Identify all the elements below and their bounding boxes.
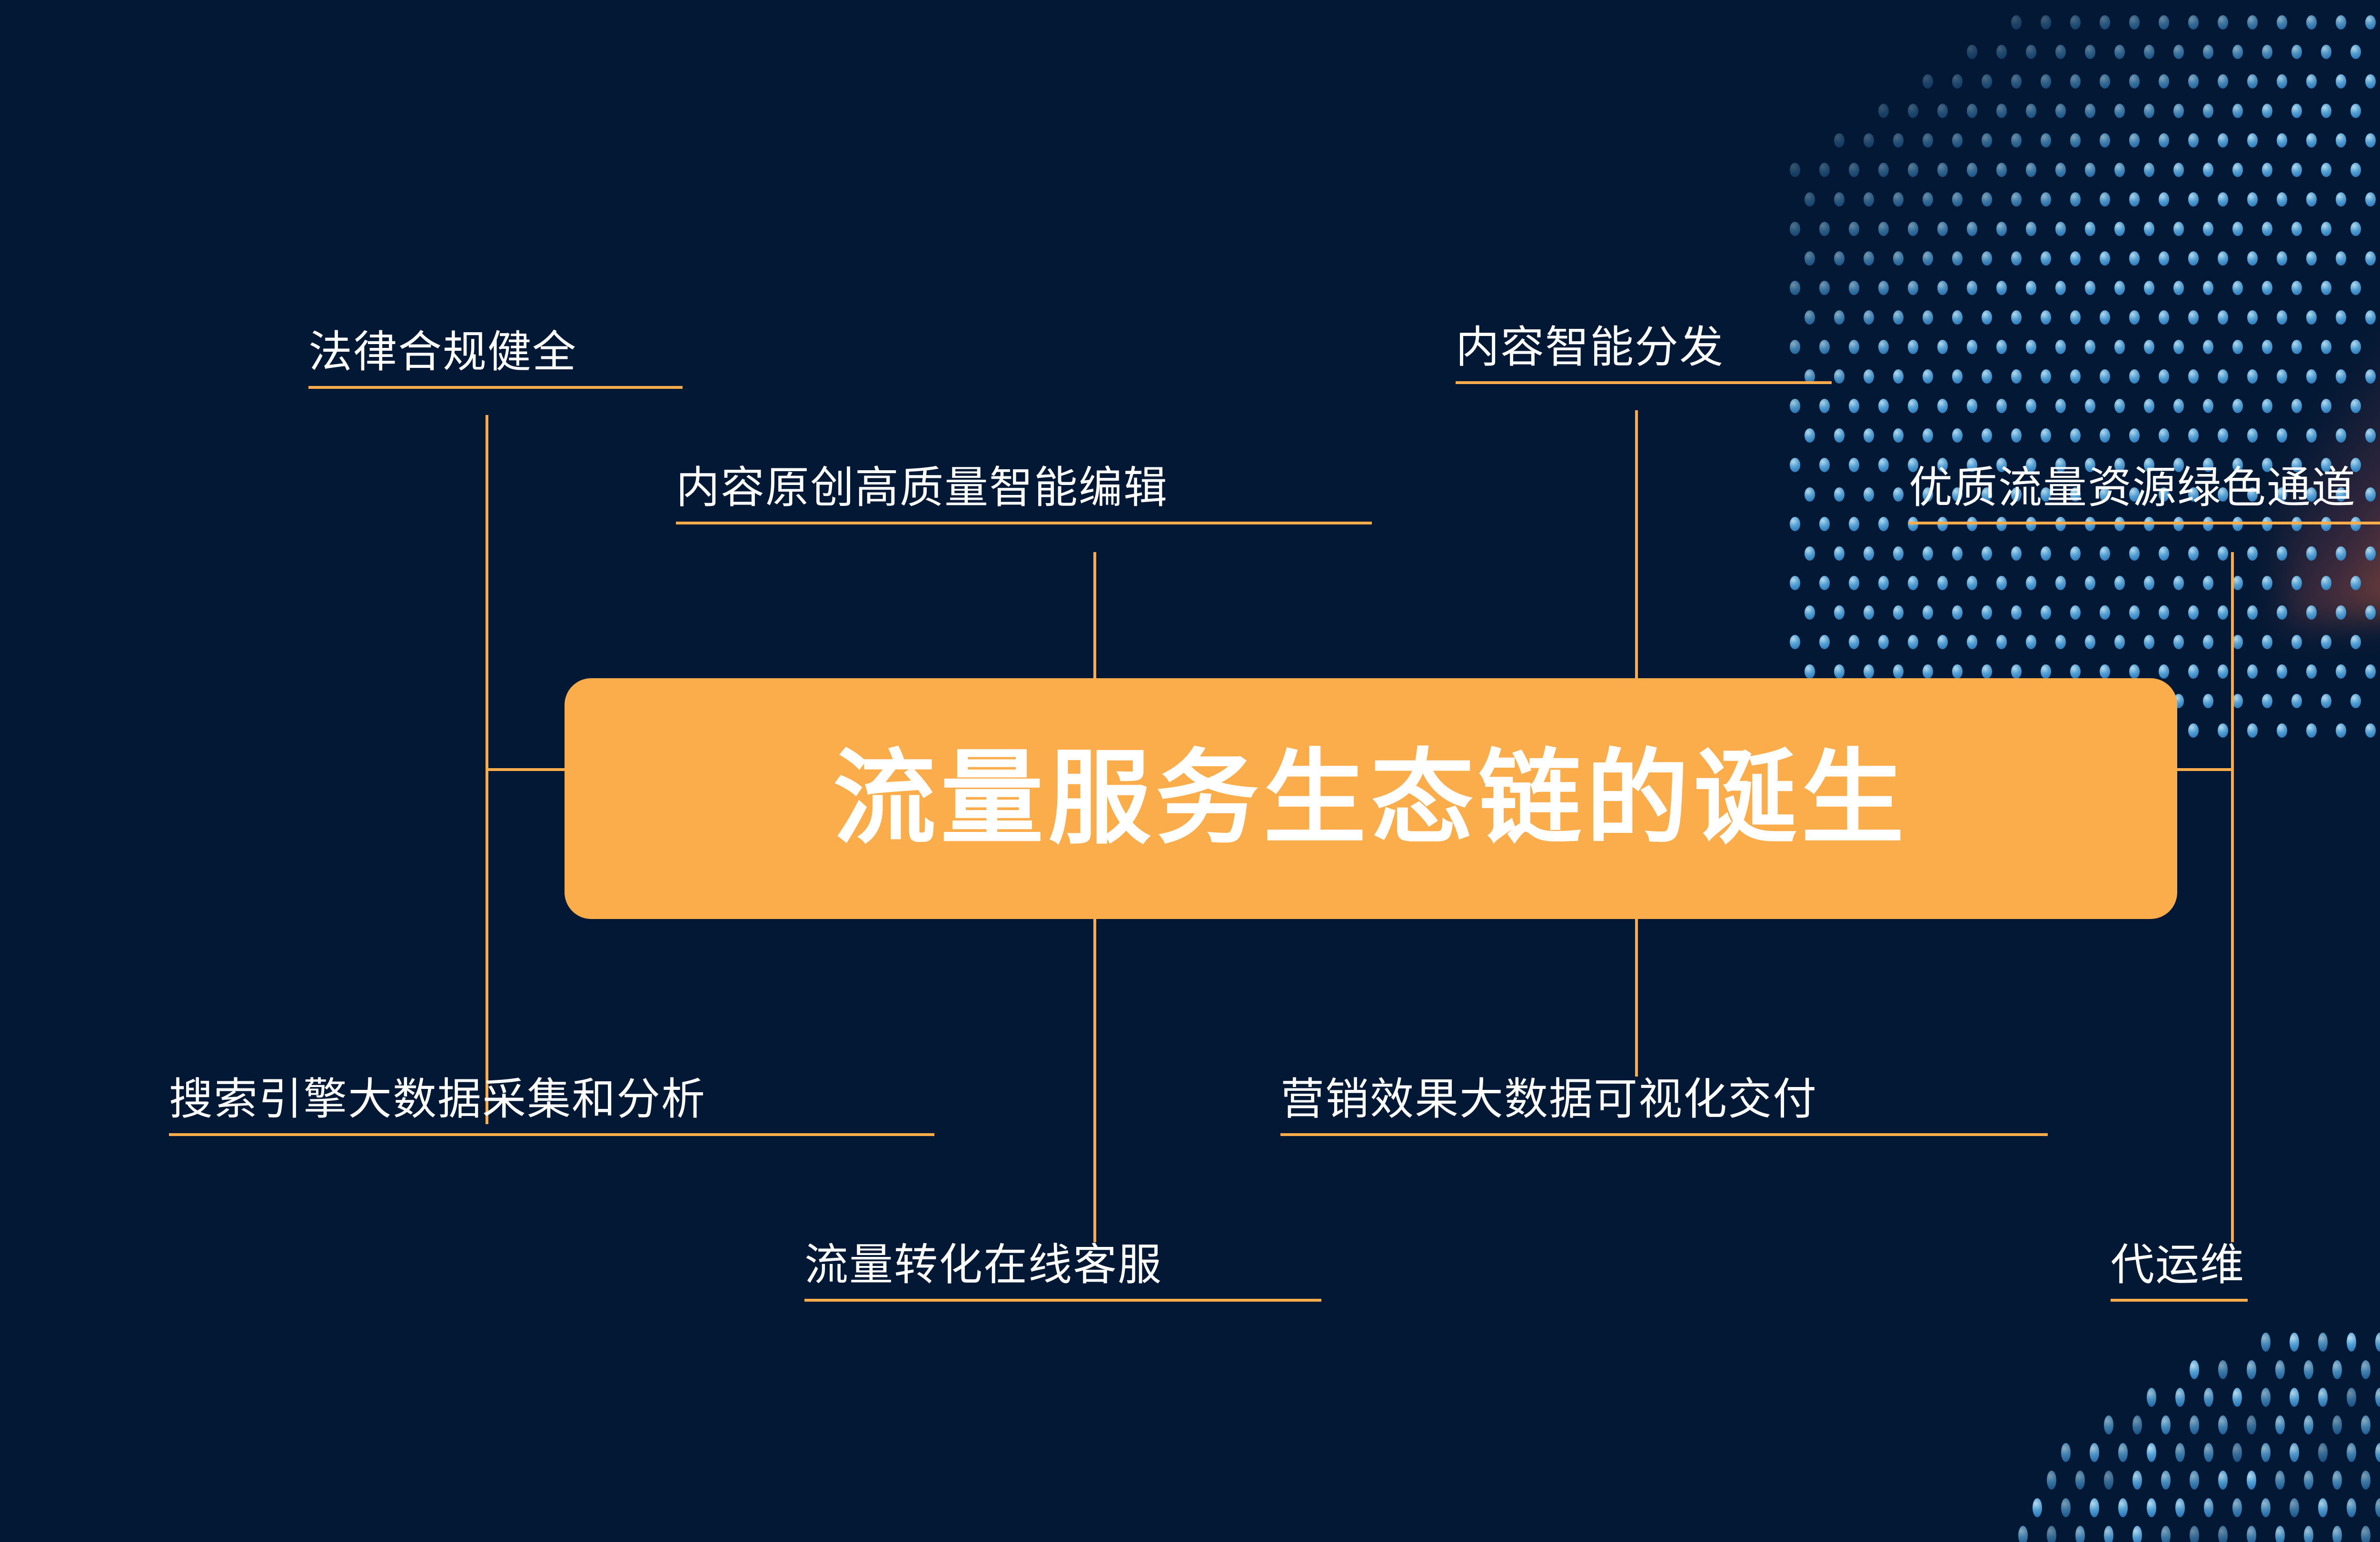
connector-vline-right-outer xyxy=(2231,552,2234,1242)
node-underline xyxy=(1280,1133,2048,1136)
node-label: 营销效果大数据可视化交付 xyxy=(1280,1076,2048,1123)
node-managed-operations[interactable]: 代运维 xyxy=(2111,1241,2248,1302)
node-search-bigdata[interactable]: 搜索引擎大数据采集和分析 xyxy=(169,1076,934,1136)
node-underline xyxy=(676,522,1372,524)
connector-hline-right xyxy=(2174,768,2234,771)
connector-hline-left xyxy=(486,768,567,771)
node-original-content[interactable]: 内容原创高质量智能编辑 xyxy=(676,464,1372,524)
node-underline xyxy=(308,386,683,389)
central-title-card[interactable]: 流量服务生态链的诞生 xyxy=(565,678,2177,919)
node-label: 内容原创高质量智能编辑 xyxy=(676,464,1372,511)
node-underline xyxy=(804,1299,1321,1302)
node-label: 代运维 xyxy=(2111,1241,2248,1288)
page-title: 流量服务生态链的诞生 xyxy=(833,747,1909,850)
node-label: 流量转化在线客服 xyxy=(804,1241,1321,1288)
node-green-channel[interactable]: 优质流量资源绿色通道 xyxy=(1909,464,2380,524)
node-traffic-conversion[interactable]: 流量转化在线客服 xyxy=(804,1241,1321,1302)
node-label: 法律合规健全 xyxy=(308,328,683,376)
node-legal-compliance[interactable]: 法律合规健全 xyxy=(308,328,683,389)
node-underline xyxy=(169,1133,934,1136)
slide-canvas: 天助网 ® www.tz1288.com 法律合规健全 内容原创高质量智能编辑 … xyxy=(0,0,2380,1542)
node-underline xyxy=(1456,381,1832,384)
node-smart-distribution[interactable]: 内容智能分发 xyxy=(1456,324,1832,384)
warm-glow-streak-decoration xyxy=(2211,0,2380,625)
node-underline xyxy=(2111,1299,2248,1302)
node-label: 内容智能分发 xyxy=(1456,324,1832,371)
node-label: 搜索引擎大数据采集和分析 xyxy=(169,1076,934,1123)
node-underline xyxy=(1909,522,2380,524)
node-marketing-visualization[interactable]: 营销效果大数据可视化交付 xyxy=(1280,1076,2048,1136)
node-label: 优质流量资源绿色通道 xyxy=(1909,464,2380,511)
